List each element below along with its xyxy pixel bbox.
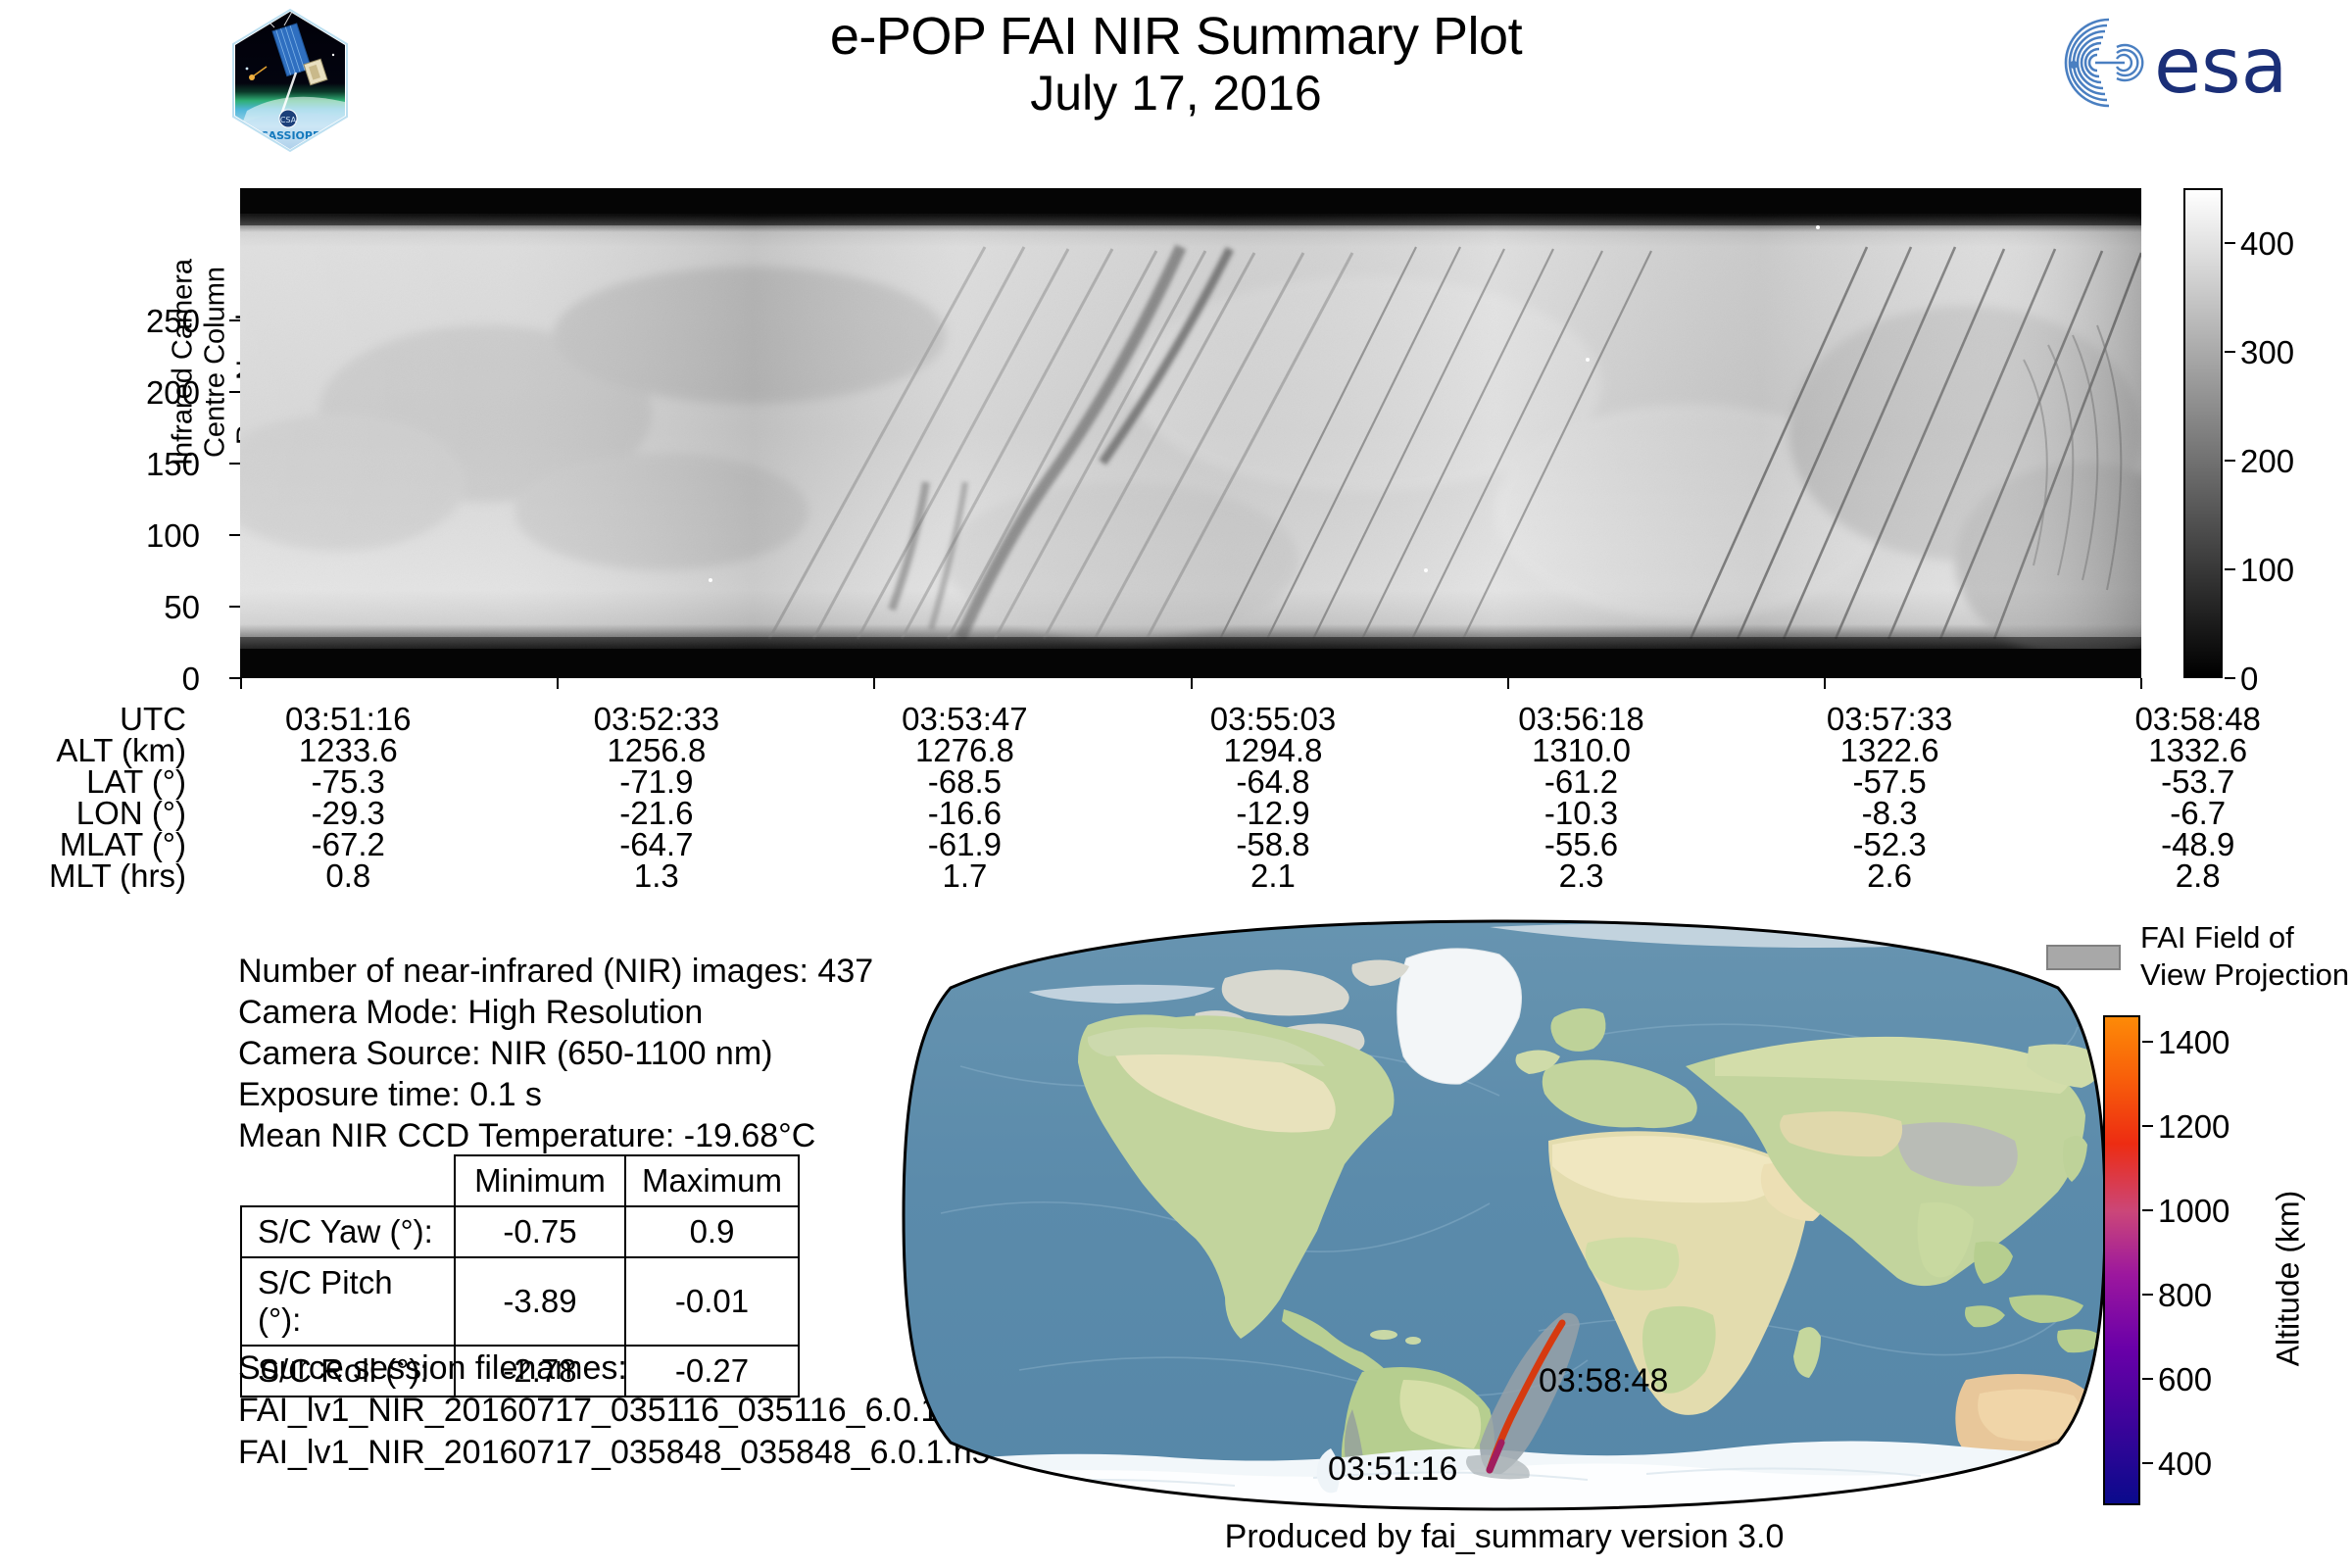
ephemeris-cell-mlt-3: 2.1 xyxy=(1119,860,1428,892)
info-num-images: Number of near-infrared (NIR) images: 43… xyxy=(238,951,983,992)
ephemeris-table: UTC 03:51:16 03:52:33 03:53:47 03:55:03 … xyxy=(0,704,2352,892)
svg-text:CSA: CSA xyxy=(280,116,297,124)
y-tick-label-50: 50 xyxy=(43,589,200,626)
ephemeris-row-label-mlat: MLAT (°) xyxy=(0,829,194,860)
ephemeris-row-alt: ALT (km) 1233.6 1256.8 1276.8 1294.8 131… xyxy=(0,735,2352,766)
info-ccd-temperature: Mean NIR CCD Temperature: -19.68°C xyxy=(238,1115,983,1156)
ephemeris-cell-alt-0: 1233.6 xyxy=(194,735,503,766)
ephemeris-cell-lat-4: -61.2 xyxy=(1427,766,1736,798)
ephemeris-cell-alt-6: 1332.6 xyxy=(2043,735,2352,766)
x-tick-mark-0 xyxy=(240,678,242,689)
ephemeris-cell-lat-6: -53.7 xyxy=(2043,766,2352,798)
ephemeris-row-mlt: MLT (hrs) 0.8 1.3 1.7 2.1 2.3 2.6 2.8 xyxy=(0,860,2352,892)
ephemeris-cell-lon-3: -12.9 xyxy=(1119,798,1428,829)
info-camera-mode: Camera Mode: High Resolution xyxy=(238,992,983,1033)
keogram-y-axis-label-line2: Centre Column xyxy=(200,108,232,617)
ephemeris-cell-mlt-2: 1.7 xyxy=(810,860,1119,892)
alt-cb-tick-1400 xyxy=(2142,1041,2153,1043)
alt-cb-tick-1200 xyxy=(2142,1125,2153,1127)
info-camera-source: Camera Source: NIR (650-1100 nm) xyxy=(238,1033,983,1074)
mission-patch-label: CASSIOPE xyxy=(261,129,320,142)
ephemeris-cell-mlt-6: 2.8 xyxy=(2043,860,2352,892)
signal-cb-label-0: 0 xyxy=(2240,661,2258,698)
ephemeris-cell-mlt-1: 1.3 xyxy=(503,860,811,892)
track-start-timestamp: 03:51:16 xyxy=(1328,1450,1457,1489)
y-tick-label-200: 200 xyxy=(43,374,200,412)
y-tick-label-150: 150 xyxy=(43,446,200,483)
altitude-colorbar xyxy=(2103,1015,2140,1505)
ephemeris-row-lat: LAT (°) -75.3 -71.9 -68.5 -64.8 -61.2 -5… xyxy=(0,766,2352,798)
y-tick-label-100: 100 xyxy=(43,517,200,555)
esa-logo: esa xyxy=(2048,14,2332,112)
ephemeris-row-label-lat: LAT (°) xyxy=(0,766,194,798)
y-tick-label-250: 250 xyxy=(43,303,200,340)
sc-table-yaw-max: 0.9 xyxy=(625,1206,799,1257)
signal-cb-label-300: 300 xyxy=(2240,334,2294,371)
ephemeris-cell-utc-1: 03:52:33 xyxy=(503,704,811,735)
ephemeris-cell-lat-0: -75.3 xyxy=(194,766,503,798)
signal-colorbar xyxy=(2183,188,2223,678)
y-tick-mark-250 xyxy=(229,319,240,321)
alt-cb-tick-400 xyxy=(2142,1462,2153,1464)
sc-table-row-pitch: S/C Pitch (°): -3.89 -0.01 xyxy=(241,1257,799,1346)
ephemeris-cell-alt-1: 1256.8 xyxy=(503,735,811,766)
sc-table-label-yaw: S/C Yaw (°): xyxy=(241,1206,455,1257)
ephemeris-cell-lon-5: -8.3 xyxy=(1736,798,2044,829)
x-tick-mark-2 xyxy=(873,678,875,689)
alt-cb-label-800: 800 xyxy=(2158,1277,2212,1314)
signal-cb-tick-0 xyxy=(2225,677,2235,679)
ephemeris-cell-lat-1: -71.9 xyxy=(503,766,811,798)
sc-table-yaw-min: -0.75 xyxy=(455,1206,625,1257)
camera-info-block: Number of near-infrared (NIR) images: 43… xyxy=(238,951,983,1156)
ephemeris-cell-alt-5: 1322.6 xyxy=(1736,735,2044,766)
ephemeris-row-mlat: MLAT (°) -67.2 -64.7 -61.9 -58.8 -55.6 -… xyxy=(0,829,2352,860)
signal-cb-label-400: 400 xyxy=(2240,225,2294,263)
world-map xyxy=(902,919,2107,1511)
ephemeris-cell-utc-2: 03:53:47 xyxy=(810,704,1119,735)
ephemeris-cell-lon-4: -10.3 xyxy=(1427,798,1736,829)
page-title: e-POP FAI NIR Summary Plot xyxy=(0,6,2352,67)
ephemeris-cell-alt-3: 1294.8 xyxy=(1119,735,1428,766)
fov-legend-label-line1: FAI Field of xyxy=(2140,919,2352,956)
fov-legend-swatch xyxy=(2046,945,2121,970)
ephemeris-cell-lon-1: -21.6 xyxy=(503,798,811,829)
y-tick-label-0: 0 xyxy=(43,661,200,698)
alt-cb-label-1200: 1200 xyxy=(2158,1108,2229,1146)
ephemeris-row-label-mlt: MLT (hrs) xyxy=(0,860,194,892)
ephemeris-cell-lat-5: -57.5 xyxy=(1736,766,2044,798)
ephemeris-cell-alt-4: 1310.0 xyxy=(1427,735,1736,766)
ephemeris-cell-utc-0: 03:51:16 xyxy=(194,704,503,735)
keogram-image xyxy=(240,188,2141,678)
alt-cb-tick-800 xyxy=(2142,1294,2153,1296)
sc-table-row-yaw: S/C Yaw (°): -0.75 0.9 xyxy=(241,1206,799,1257)
x-tick-mark-5 xyxy=(1824,678,1826,689)
ephemeris-cell-mlt-0: 0.8 xyxy=(194,860,503,892)
ephemeris-cell-mlat-6: -48.9 xyxy=(2043,829,2352,860)
ephemeris-cell-mlat-4: -55.6 xyxy=(1427,829,1736,860)
ephemeris-cell-mlat-1: -64.7 xyxy=(503,829,811,860)
alt-cb-label-1400: 1400 xyxy=(2158,1024,2229,1061)
ephemeris-row-label-lon: LON (°) xyxy=(0,798,194,829)
esa-wordmark: esa xyxy=(2154,23,2287,111)
fov-legend-label-line2: View Projection xyxy=(2140,956,2352,994)
sc-table-header-row: Minimum Maximum xyxy=(241,1155,799,1206)
sc-table-header-maximum: Maximum xyxy=(625,1155,799,1206)
ephemeris-row-label-utc: UTC xyxy=(0,704,194,735)
ephemeris-cell-mlat-2: -61.9 xyxy=(810,829,1119,860)
sc-table-pitch-max: -0.01 xyxy=(625,1257,799,1346)
altitude-colorbar-axis-label: Altitude (km) xyxy=(2271,1049,2307,1509)
signal-cb-tick-100 xyxy=(2225,568,2235,570)
ephemeris-cell-lon-0: -29.3 xyxy=(194,798,503,829)
ephemeris-cell-mlat-3: -58.8 xyxy=(1119,829,1428,860)
ephemeris-cell-mlt-5: 2.6 xyxy=(1736,860,2044,892)
ephemeris-cell-alt-2: 1276.8 xyxy=(810,735,1119,766)
signal-cb-label-200: 200 xyxy=(2240,443,2294,480)
signal-cb-label-100: 100 xyxy=(2240,552,2294,589)
signal-cb-tick-200 xyxy=(2225,460,2235,462)
ephemeris-cell-lon-6: -6.7 xyxy=(2043,798,2352,829)
ephemeris-cell-mlat-5: -52.3 xyxy=(1736,829,2044,860)
alt-cb-label-600: 600 xyxy=(2158,1361,2212,1398)
ephemeris-row-lon: LON (°) -29.3 -21.6 -16.6 -12.9 -10.3 -8… xyxy=(0,798,2352,829)
page-subtitle-date: July 17, 2016 xyxy=(0,65,2352,122)
ephemeris-cell-mlt-4: 2.3 xyxy=(1427,860,1736,892)
alt-cb-label-1000: 1000 xyxy=(2158,1193,2229,1230)
x-tick-mark-1 xyxy=(557,678,559,689)
signal-cb-tick-300 xyxy=(2225,351,2235,353)
alt-cb-label-400: 400 xyxy=(2158,1445,2212,1483)
ephemeris-row-label-alt: ALT (km) xyxy=(0,735,194,766)
signal-cb-tick-400 xyxy=(2225,242,2235,244)
track-end-timestamp: 03:58:48 xyxy=(1539,1362,1668,1400)
x-tick-mark-6 xyxy=(2140,678,2142,689)
ephemeris-cell-utc-6: 03:58:48 xyxy=(2043,704,2352,735)
ephemeris-cell-lon-2: -16.6 xyxy=(810,798,1119,829)
x-tick-mark-4 xyxy=(1507,678,1509,689)
fov-legend-label: FAI Field of View Projection xyxy=(2140,919,2352,994)
sc-table-label-pitch: S/C Pitch (°): xyxy=(241,1257,455,1346)
y-tick-mark-100 xyxy=(229,534,240,536)
y-tick-mark-200 xyxy=(229,391,240,393)
ephemeris-cell-utc-4: 03:56:18 xyxy=(1427,704,1736,735)
alt-cb-tick-600 xyxy=(2142,1378,2153,1380)
ephemeris-cell-utc-5: 03:57:33 xyxy=(1736,704,2044,735)
info-exposure-time: Exposure time: 0.1 s xyxy=(238,1074,983,1115)
ephemeris-row-utc: UTC 03:51:16 03:52:33 03:53:47 03:55:03 … xyxy=(0,704,2352,735)
ephemeris-cell-utc-3: 03:55:03 xyxy=(1119,704,1428,735)
footer-credit: Produced by fai_summary version 3.0 xyxy=(902,1518,2107,1556)
sc-table-header-minimum: Minimum xyxy=(455,1155,625,1206)
y-tick-mark-150 xyxy=(229,463,240,465)
y-tick-mark-0 xyxy=(229,677,240,679)
ephemeris-cell-mlat-0: -67.2 xyxy=(194,829,503,860)
ephemeris-cell-lat-3: -64.8 xyxy=(1119,766,1428,798)
ephemeris-cell-lat-2: -68.5 xyxy=(810,766,1119,798)
x-tick-mark-3 xyxy=(1191,678,1193,689)
sc-table-corner-cell xyxy=(241,1155,455,1206)
sc-table-pitch-min: -3.89 xyxy=(455,1257,625,1346)
alt-cb-tick-1000 xyxy=(2142,1209,2153,1211)
y-tick-mark-50 xyxy=(229,606,240,608)
